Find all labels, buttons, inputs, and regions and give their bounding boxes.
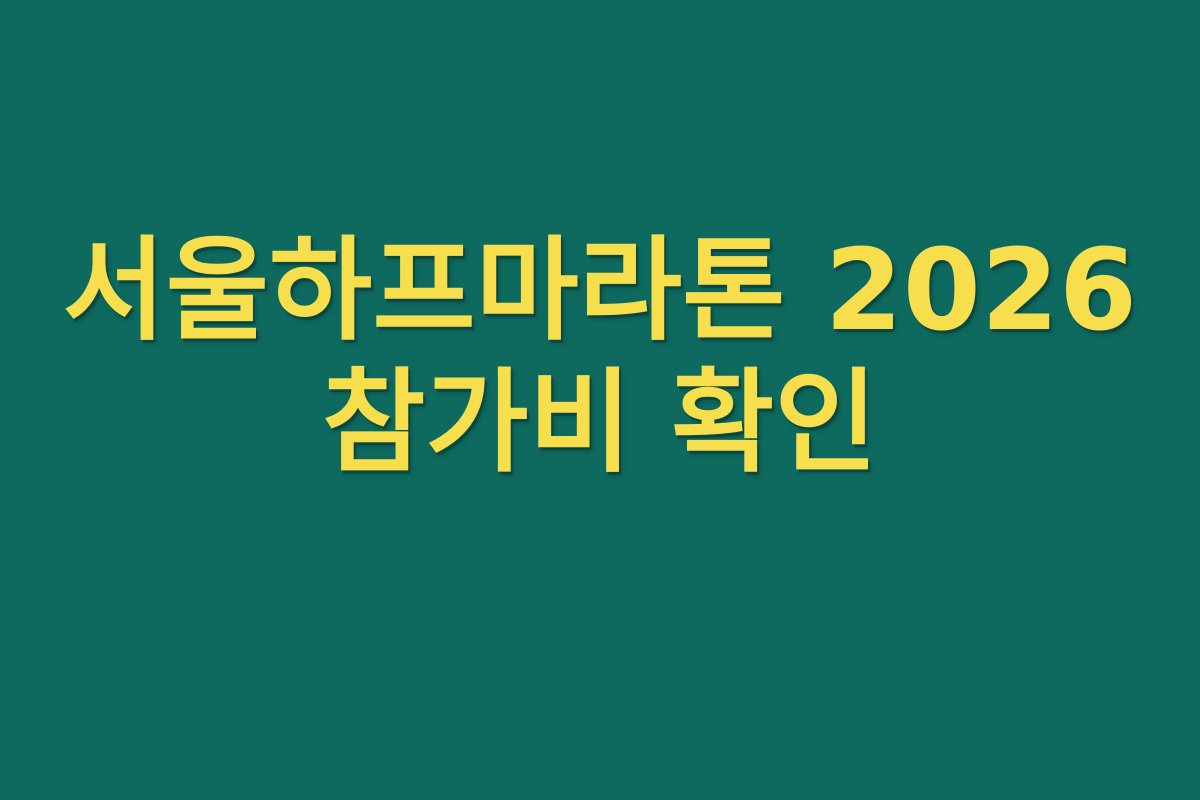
headline-line-primary: 서울하프마라톤 2026	[0, 225, 1200, 357]
banner-canvas: 서울하프마라톤 2026 참가비 확인	[0, 0, 1200, 800]
headline-line-secondary: 참가비 확인	[0, 357, 1200, 489]
headline-block: 서울하프마라톤 2026 참가비 확인	[0, 225, 1200, 489]
